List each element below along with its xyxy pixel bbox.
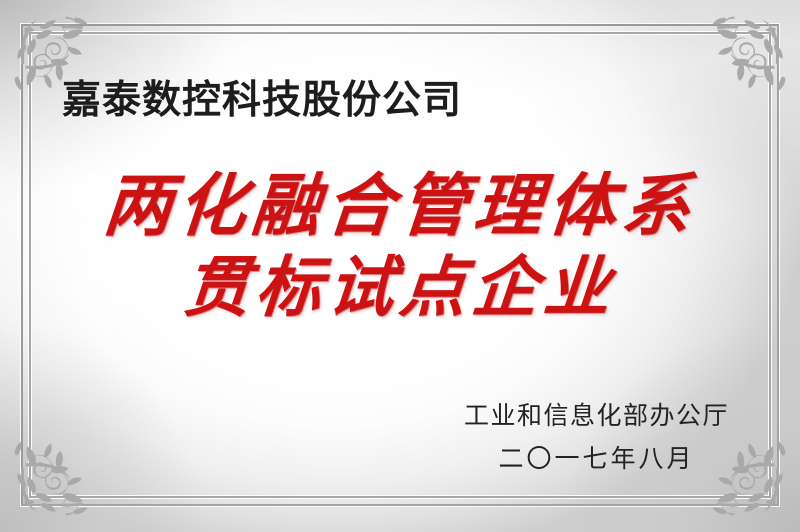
issuer-block: 工业和信息化部办公厅 二〇一七年八月 (464, 396, 729, 475)
company-name: 嘉泰数控科技股份公司 (62, 69, 462, 125)
issuer-organization: 工业和信息化部办公厅 (464, 396, 729, 432)
certificate-plaque: 嘉泰数控科技股份公司 两化融合管理体系 贯标试点企业 工业和信息化部办公厅 二〇… (0, 0, 800, 532)
award-title-line-2: 贯标试点企业 (0, 254, 800, 320)
award-title-line-1: 两化融合管理体系 (0, 172, 800, 240)
issuer-date: 二〇一七年八月 (464, 439, 729, 475)
award-title: 两化融合管理体系 贯标试点企业 (0, 172, 800, 320)
